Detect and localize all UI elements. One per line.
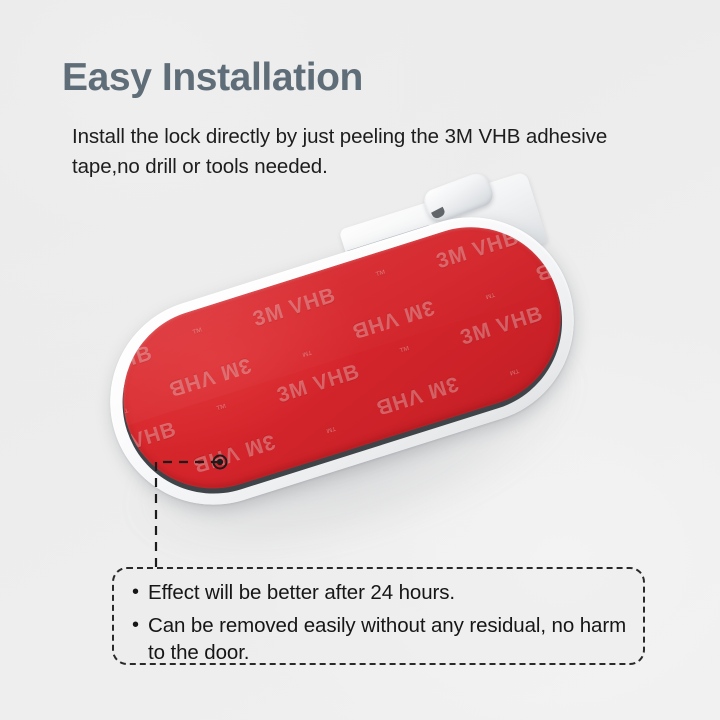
list-item: • Can be removed easily without any resi… — [132, 612, 627, 666]
callout-note-text: Can be removed easily without any residu… — [148, 612, 627, 666]
tape-watermark-text: 3M VHB — [434, 226, 522, 274]
tape-watermark-tm: ™ — [398, 344, 413, 359]
infographic-canvas: Easy Installation Install the lock direc… — [0, 0, 720, 720]
tape-watermark-text: 3M VHB — [274, 360, 362, 408]
tape-watermark-tm: ™ — [557, 210, 572, 225]
tape-watermark-text: 3M VHB — [373, 372, 461, 420]
tape-watermark-text: 3M VHB — [190, 430, 278, 478]
tape-watermark-tm: ™ — [139, 478, 154, 493]
list-item: • Effect will be better after 24 hours. — [132, 579, 627, 606]
tape-watermark-tm: ™ — [374, 268, 389, 283]
bullet-icon: • — [132, 612, 148, 639]
notes-callout-box: • Effect will be better after 24 hours. … — [112, 567, 645, 665]
tape-watermark-text: 3M VHB — [250, 283, 338, 331]
bullet-icon: • — [132, 579, 148, 606]
product-image: 3M VHB™ 3M VHB™ 3M VHB™ 3M VHB™ 3M VHB™ … — [0, 150, 720, 580]
tape-watermark-text: 3M VHB — [349, 295, 437, 343]
callout-note-text: Effect will be better after 24 hours. — [148, 579, 627, 606]
tape-watermark-tm: ™ — [581, 286, 583, 301]
tape-watermark-tm: ™ — [298, 344, 313, 359]
tape-watermark-tm: ™ — [506, 362, 521, 377]
tape-watermark-tm: ™ — [215, 402, 230, 417]
tape-watermark-text: 3M VHB — [100, 341, 155, 389]
tape-watermark-text: 3M VHB — [458, 302, 546, 350]
tape-watermark-text: 3M VHB — [165, 353, 253, 401]
tape-watermark-tm: ™ — [322, 420, 337, 435]
page-title: Easy Installation — [62, 55, 363, 101]
tape-watermark-tm: ™ — [482, 286, 497, 301]
tape-watermark-tm: ™ — [191, 325, 206, 340]
